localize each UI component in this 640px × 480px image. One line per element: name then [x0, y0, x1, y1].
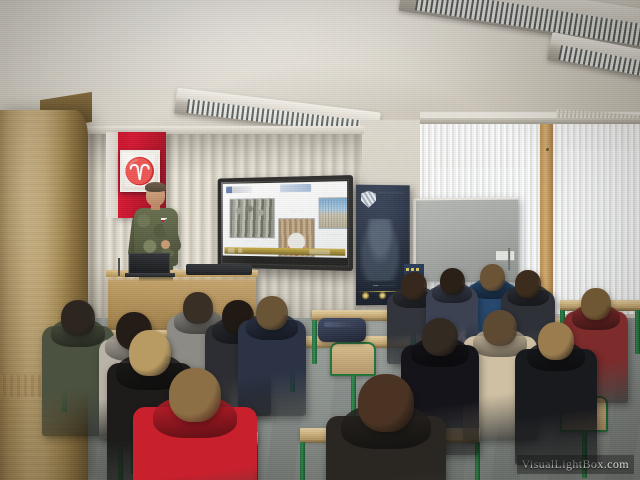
- student-brown-hair-girl: [326, 374, 446, 480]
- student-olive-hoodie-head: [61, 300, 95, 336]
- student-phone-user-head: [538, 322, 574, 360]
- student-black-pink-head: [422, 318, 458, 356]
- classroom-photo: ♈ ............ .... ........ .... ......…: [0, 0, 640, 480]
- student-red-hoodie: [133, 368, 257, 480]
- backpack: [318, 318, 366, 342]
- student-beige-hoodie-head: [483, 310, 517, 346]
- student-phone-user: [515, 322, 597, 438]
- audience-layer: [0, 0, 640, 480]
- student-back-row-b-head: [440, 268, 465, 295]
- student-back-row-a-head: [401, 272, 427, 300]
- student-back-row-d-head: [515, 270, 541, 298]
- student-brown-hair-girl-head: [358, 374, 414, 432]
- student-plaid-shirt-head: [581, 288, 611, 320]
- student-red-hoodie-head: [169, 368, 221, 422]
- backpack-strap: [324, 322, 356, 327]
- student-navy-jacket-head: [256, 296, 288, 330]
